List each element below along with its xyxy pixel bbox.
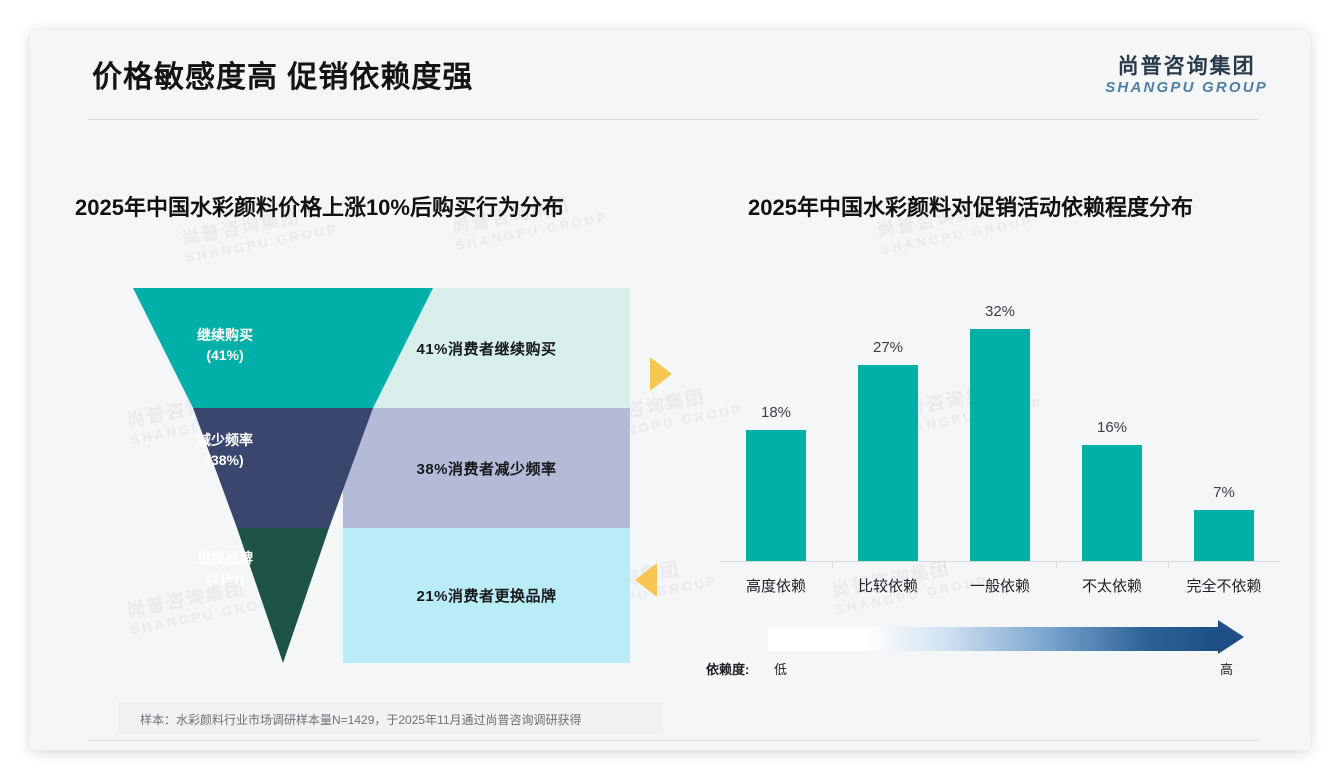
bar [1082,445,1142,561]
slide: 尚普咨询集团SHANGPU GROUP 尚普咨询集团SHANGPU GROUP … [30,30,1310,750]
bar-column [944,285,1056,561]
logo-text-cn: 尚普咨询集团 [1105,56,1268,77]
gradient-bar [768,627,1218,651]
dependency-gradient-legend: 依赖度: 低 高 [720,625,1280,685]
bar-category-label: 不太依赖 [1056,575,1168,596]
x-axis-tick [1168,561,1169,568]
bar-value-label: 16% [1056,419,1168,436]
page-title: 价格敏感度高 促销依赖度强 [92,52,473,96]
bar-category-label: 一般依赖 [944,575,1056,596]
bar-value-label: 7% [1168,484,1280,501]
bar [746,430,806,561]
funnel-label-continue: 继续购买(41%) [160,325,290,366]
bar-column [720,285,832,561]
bar [858,365,918,561]
triangle-right-icon [650,357,672,391]
funnel-label-switch: 更换品牌(21%) [170,548,280,589]
legend-high-label: 高 [1220,659,1233,678]
bar-value-label: 18% [720,404,832,421]
source-note: 样本：水彩颜料行业市场调研样本量N=1429，于2025年11月通过尚普咨询调研… [140,711,582,728]
bar-category-label: 完全不依赖 [1168,575,1280,596]
bar [1194,510,1254,561]
x-axis-tick [944,561,945,568]
bar-category-label: 比较依赖 [832,575,944,596]
bar-plot-area: 18%27%32%16%7% [720,285,1280,561]
funnel-label-reduce: 减少频率(38%) [160,430,290,471]
bar-value-label: 27% [832,339,944,356]
logo-text-en: SHANGPU GROUP [1105,80,1268,95]
source-note-box: 样本：水彩颜料行业市场调研样本量N=1429，于2025年11月通过尚普咨询调研… [118,702,663,734]
x-axis-line [720,561,1280,562]
legend-low-label: 低 [774,659,787,678]
bar-value-label: 32% [944,303,1056,320]
bar-category-label: 高度依赖 [720,575,832,596]
bar-column [1168,285,1280,561]
triangle-left-icon [635,563,657,597]
header-divider [88,119,1258,120]
left-chart-title: 2025年中国水彩颜料价格上涨10%后购买行为分布 [75,190,564,222]
legend-title: 依赖度: [706,659,749,678]
arrow-right-icon [1218,620,1244,654]
slide-header: 价格敏感度高 促销依赖度强 尚普咨询集团 SHANGPU GROUP [30,30,1310,120]
right-chart-title: 2025年中国水彩颜料对促销活动依赖程度分布 [748,190,1193,222]
bar-column [832,285,944,561]
dependency-bar-chart: 18%27%32%16%7% 高度依赖比较依赖一般依赖不太依赖完全不依赖 [720,285,1280,605]
x-axis-tick [1056,561,1057,568]
bar [970,329,1030,561]
brand-logo: 尚普咨询集团 SHANGPU GROUP [1105,56,1268,95]
footer-divider [88,740,1258,741]
x-axis-tick [832,561,833,568]
